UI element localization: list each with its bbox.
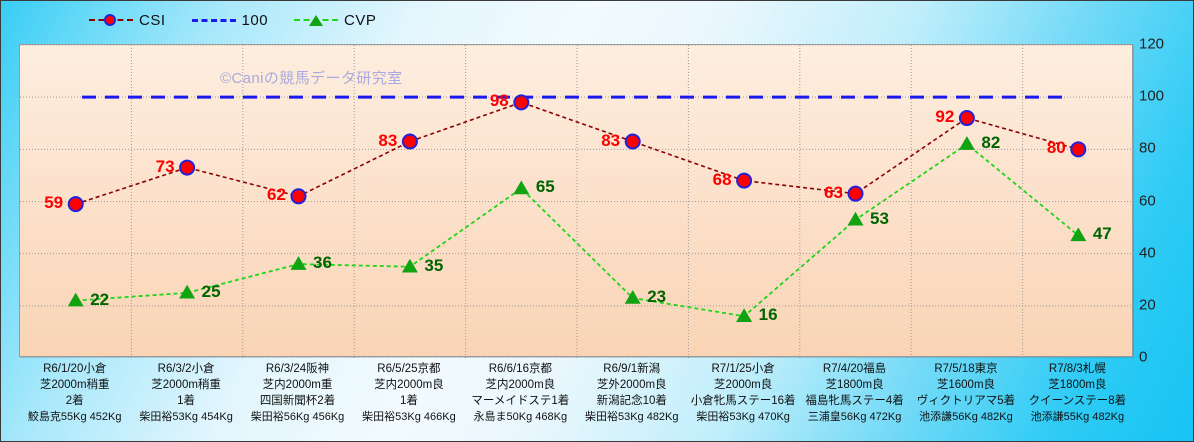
value-label-cvp: 25 bbox=[202, 282, 221, 302]
data-point-cvp bbox=[402, 259, 418, 273]
value-label-csi: 62 bbox=[267, 185, 286, 205]
x-label-jockey: 柴田裕53Kg 470Kg bbox=[687, 409, 798, 425]
x-label-course: 芝2000m稍重 bbox=[130, 377, 241, 393]
x-label-date: R7/8/3札幌 bbox=[1022, 361, 1133, 377]
value-label-cvp: 82 bbox=[981, 133, 1000, 153]
x-label-jockey: 柴田裕53Kg 454Kg bbox=[130, 409, 241, 425]
data-point-cvp bbox=[1070, 227, 1086, 241]
x-axis-labels: R6/1/20小倉芝2000m稍重2着鮫島克55Kg 452KgR6/3/2小倉… bbox=[19, 361, 1133, 437]
y-axis-tick: 0 bbox=[1139, 349, 1147, 366]
data-point-cvp bbox=[513, 180, 529, 194]
x-label-result: 2着 bbox=[19, 393, 130, 409]
cvp-marker-icon bbox=[294, 12, 338, 28]
csi-marker-icon bbox=[89, 12, 133, 28]
x-axis-label-column: R6/3/24阪神芝内2000m重四国新聞杯2着柴田裕56Kg 456Kg bbox=[242, 361, 353, 437]
x-label-result: 福島牝馬ステー4着 bbox=[799, 393, 910, 409]
y-axis-tick: 60 bbox=[1139, 192, 1156, 209]
x-label-result: クイーンステー8着 bbox=[1022, 393, 1133, 409]
legend-item-100[interactable]: 100 bbox=[192, 12, 269, 29]
legend-label-cvp: CVP bbox=[344, 12, 376, 29]
value-label-cvp: 47 bbox=[1093, 224, 1112, 244]
x-label-date: R6/3/24阪神 bbox=[242, 361, 353, 377]
data-point-cvp bbox=[959, 136, 975, 150]
x-axis-label-column: R7/4/20福島芝1800m良福島牝馬ステー4着三浦皇56Kg 472Kg bbox=[799, 361, 910, 437]
x-label-course: 芝1800m良 bbox=[799, 377, 910, 393]
x-label-result: 新潟記念10着 bbox=[576, 393, 687, 409]
y-axis-tick: 80 bbox=[1139, 140, 1156, 157]
data-point-csi bbox=[403, 135, 417, 149]
value-label-csi: 59 bbox=[44, 193, 63, 213]
x-axis-label-column: R7/1/25小倉芝2000m良小倉牝馬ステー16着柴田裕53Kg 470Kg bbox=[687, 361, 798, 437]
value-label-csi: 80 bbox=[1047, 138, 1066, 158]
x-label-jockey: 柴田裕53Kg 466Kg bbox=[353, 409, 464, 425]
legend-label-csi: CSI bbox=[139, 12, 166, 29]
x-label-date: R6/5/25京都 bbox=[353, 361, 464, 377]
x-axis-label-column: R6/6/16京都芝内2000m良マーメイドステ1着永島ま50Kg 468Kg bbox=[465, 361, 576, 437]
x-label-jockey: 三浦皇56Kg 472Kg bbox=[799, 409, 910, 425]
x-label-jockey: 池添謙55Kg 482Kg bbox=[1022, 409, 1133, 425]
x-label-jockey: 鮫島克55Kg 452Kg bbox=[19, 409, 130, 425]
data-series-layer bbox=[20, 45, 1134, 358]
data-point-csi bbox=[292, 189, 306, 203]
value-label-cvp: 35 bbox=[424, 256, 443, 276]
x-axis-label-column: R6/5/25京都芝内2000m良1着柴田裕53Kg 466Kg bbox=[353, 361, 464, 437]
data-point-csi bbox=[626, 135, 640, 149]
x-label-course: 芝2000m良 bbox=[687, 377, 798, 393]
x-label-course: 芝外2000m良 bbox=[576, 377, 687, 393]
legend-label-100: 100 bbox=[242, 12, 269, 29]
x-axis-label-column: R7/5/18東京芝1600m良ヴィクトリアマ5着池添謙56Kg 482Kg bbox=[910, 361, 1021, 437]
value-label-csi: 73 bbox=[156, 157, 175, 177]
series-line-cvp bbox=[76, 144, 1079, 316]
chart-page: CSI 100 CVP ©Caniの競馬データ研究室 5973628398836… bbox=[0, 0, 1194, 442]
value-label-csi: 68 bbox=[713, 170, 732, 190]
x-label-result: 四国新聞杯2着 bbox=[242, 393, 353, 409]
legend-item-csi[interactable]: CSI bbox=[89, 12, 166, 29]
data-point-cvp bbox=[848, 212, 864, 226]
data-point-csi bbox=[849, 187, 863, 201]
plot-area: ©Caniの競馬データ研究室 5973628398836863928022253… bbox=[19, 44, 1133, 357]
x-label-result: マーメイドステ1着 bbox=[465, 393, 576, 409]
data-point-cvp bbox=[291, 256, 307, 270]
x-label-course: 芝1600m良 bbox=[910, 377, 1021, 393]
chart-legend: CSI 100 CVP bbox=[1, 7, 1194, 33]
x-axis-label-column: R7/8/3札幌芝1800m良クイーンステー8着池添謙55Kg 482Kg bbox=[1022, 361, 1133, 437]
x-label-date: R6/9/1新潟 bbox=[576, 361, 687, 377]
data-point-csi bbox=[737, 174, 751, 188]
x-label-result: 1着 bbox=[353, 393, 464, 409]
x-label-course: 芝内2000m良 bbox=[353, 377, 464, 393]
x-label-date: R7/1/25小倉 bbox=[687, 361, 798, 377]
value-label-cvp: 22 bbox=[90, 290, 109, 310]
x-label-jockey: 柴田裕53Kg 482Kg bbox=[576, 409, 687, 425]
x-label-date: R6/6/16京都 bbox=[465, 361, 576, 377]
data-point-cvp bbox=[68, 293, 84, 307]
value-label-csi: 83 bbox=[378, 131, 397, 151]
y-axis-tick: 20 bbox=[1139, 296, 1156, 313]
x-axis-label-column: R6/1/20小倉芝2000m稍重2着鮫島克55Kg 452Kg bbox=[19, 361, 130, 437]
x-label-jockey: 永島ま50Kg 468Kg bbox=[465, 409, 576, 425]
x-label-course: 芝内2000m良 bbox=[465, 377, 576, 393]
y-axis-tick: 100 bbox=[1139, 88, 1164, 105]
x-label-date: R7/5/18東京 bbox=[910, 361, 1021, 377]
value-label-cvp: 16 bbox=[759, 305, 778, 325]
data-point-cvp bbox=[179, 285, 195, 299]
x-label-course: 芝内2000m重 bbox=[242, 377, 353, 393]
x-label-result: 1着 bbox=[130, 393, 241, 409]
data-point-csi bbox=[960, 111, 974, 125]
y-axis-tick: 120 bbox=[1139, 36, 1164, 53]
y-axis: 120100806040200 bbox=[1139, 44, 1189, 357]
x-label-course: 芝2000m稍重 bbox=[19, 377, 130, 393]
x-label-date: R7/4/20福島 bbox=[799, 361, 910, 377]
value-label-csi: 63 bbox=[824, 183, 843, 203]
value-label-csi: 83 bbox=[601, 131, 620, 151]
x-label-result: ヴィクトリアマ5着 bbox=[910, 393, 1021, 409]
data-point-csi bbox=[69, 197, 83, 211]
series-line-csi bbox=[76, 102, 1079, 204]
threshold-line-icon bbox=[192, 12, 236, 28]
x-label-jockey: 池添謙56Kg 482Kg bbox=[910, 409, 1021, 425]
legend-item-cvp[interactable]: CVP bbox=[294, 12, 376, 29]
value-label-cvp: 65 bbox=[536, 177, 555, 197]
plot-area-wrapper: ©Caniの競馬データ研究室 5973628398836863928022253… bbox=[19, 44, 1133, 357]
y-axis-tick: 40 bbox=[1139, 244, 1156, 261]
watermark-text: ©Caniの競馬データ研究室 bbox=[220, 67, 403, 88]
value-label-cvp: 23 bbox=[647, 287, 666, 307]
value-label-csi: 98 bbox=[490, 91, 509, 111]
data-point-csi bbox=[514, 95, 528, 109]
value-label-cvp: 53 bbox=[870, 209, 889, 229]
data-point-csi bbox=[1071, 142, 1085, 156]
x-axis-label-column: R6/3/2小倉芝2000m稍重1着柴田裕53Kg 454Kg bbox=[130, 361, 241, 437]
x-label-jockey: 柴田裕56Kg 456Kg bbox=[242, 409, 353, 425]
x-label-date: R6/1/20小倉 bbox=[19, 361, 130, 377]
x-axis-label-column: R6/9/1新潟芝外2000m良新潟記念10着柴田裕53Kg 482Kg bbox=[576, 361, 687, 437]
data-point-cvp bbox=[625, 290, 641, 304]
data-point-csi bbox=[180, 161, 194, 175]
x-label-date: R6/3/2小倉 bbox=[130, 361, 241, 377]
x-label-result: 小倉牝馬ステー16着 bbox=[687, 393, 798, 409]
x-label-course: 芝1800m良 bbox=[1022, 377, 1133, 393]
value-label-csi: 92 bbox=[935, 107, 954, 127]
value-label-cvp: 36 bbox=[313, 253, 332, 273]
